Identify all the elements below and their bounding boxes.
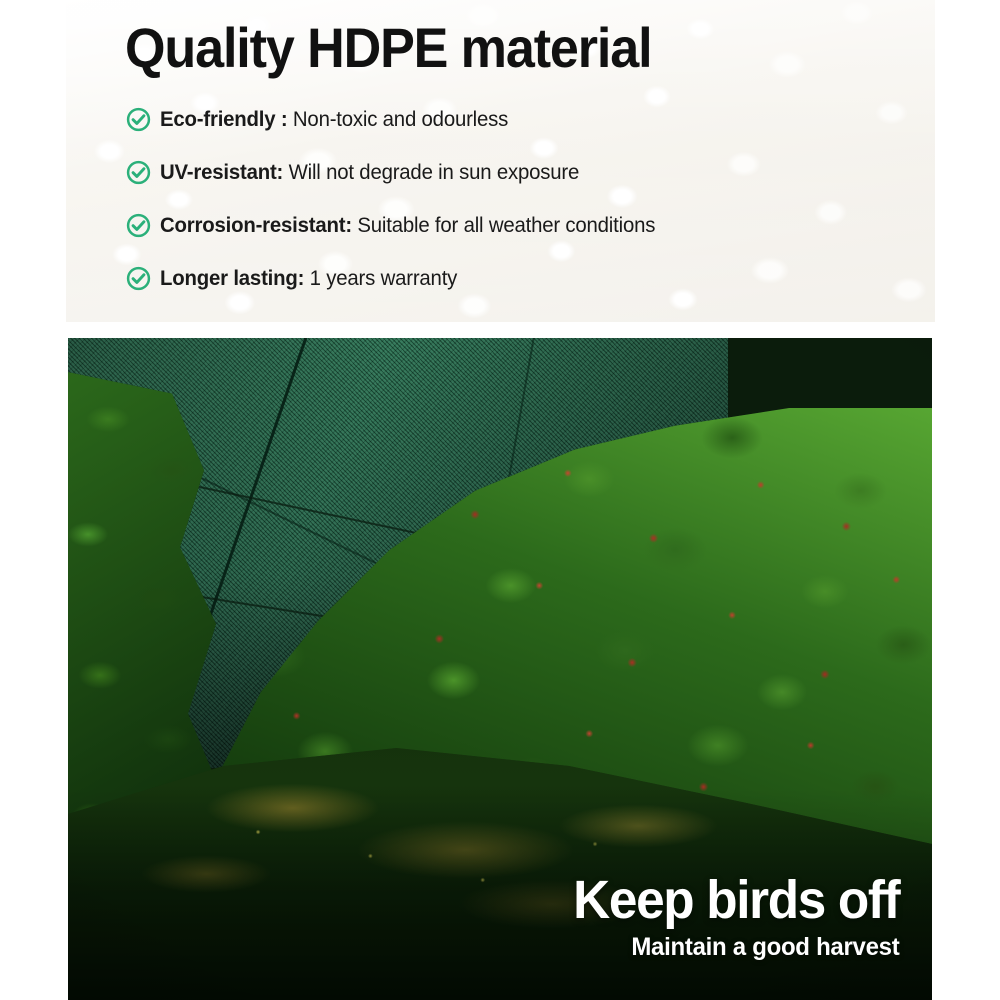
list-item: Longer lasting: 1 years warranty (126, 252, 926, 305)
feature-label: Eco-friendly : (160, 108, 287, 131)
overlay-subtitle: Maintain a good harvest (569, 933, 899, 962)
list-item: Corrosion-resistant: Suitable for all we… (126, 199, 926, 252)
feature-list: Eco-friendly : Non-toxic and odourless U… (126, 93, 926, 305)
hdpe-material-panel: Quality HDPE material Eco-friendly : Non… (66, 0, 935, 322)
list-item: Eco-friendly : Non-toxic and odourless (126, 93, 926, 146)
check-circle-icon (126, 213, 151, 238)
feature-text: Longer lasting: 1 years warranty (160, 267, 457, 291)
photo-caption: Keep birds off Maintain a good harvest (556, 872, 899, 962)
feature-text: Eco-friendly : Non-toxic and odourless (160, 108, 508, 132)
check-circle-icon (126, 107, 151, 132)
orchard-photo-panel: Keep birds off Maintain a good harvest (68, 338, 932, 1000)
feature-text: UV-resistant: Will not degrade in sun ex… (160, 161, 579, 185)
page-title: Quality HDPE material (125, 18, 651, 78)
overlay-title: Keep birds off (573, 872, 899, 928)
feature-description: 1 years warranty (310, 267, 457, 290)
feature-label: Longer lasting: (160, 267, 304, 290)
product-feature-image: Quality HDPE material Eco-friendly : Non… (0, 0, 1000, 1000)
feature-label: Corrosion-resistant: (160, 214, 352, 237)
feature-text: Corrosion-resistant: Suitable for all we… (160, 214, 655, 238)
feature-description: Non-toxic and odourless (293, 108, 508, 131)
top-panel-content: Quality HDPE material Eco-friendly : Non… (66, 0, 935, 322)
check-circle-icon (126, 160, 151, 185)
check-circle-icon (126, 266, 151, 291)
feature-description: Suitable for all weather conditions (357, 214, 655, 237)
feature-description: Will not degrade in sun exposure (289, 161, 579, 184)
feature-label: UV-resistant: (160, 161, 283, 184)
list-item: UV-resistant: Will not degrade in sun ex… (126, 146, 926, 199)
